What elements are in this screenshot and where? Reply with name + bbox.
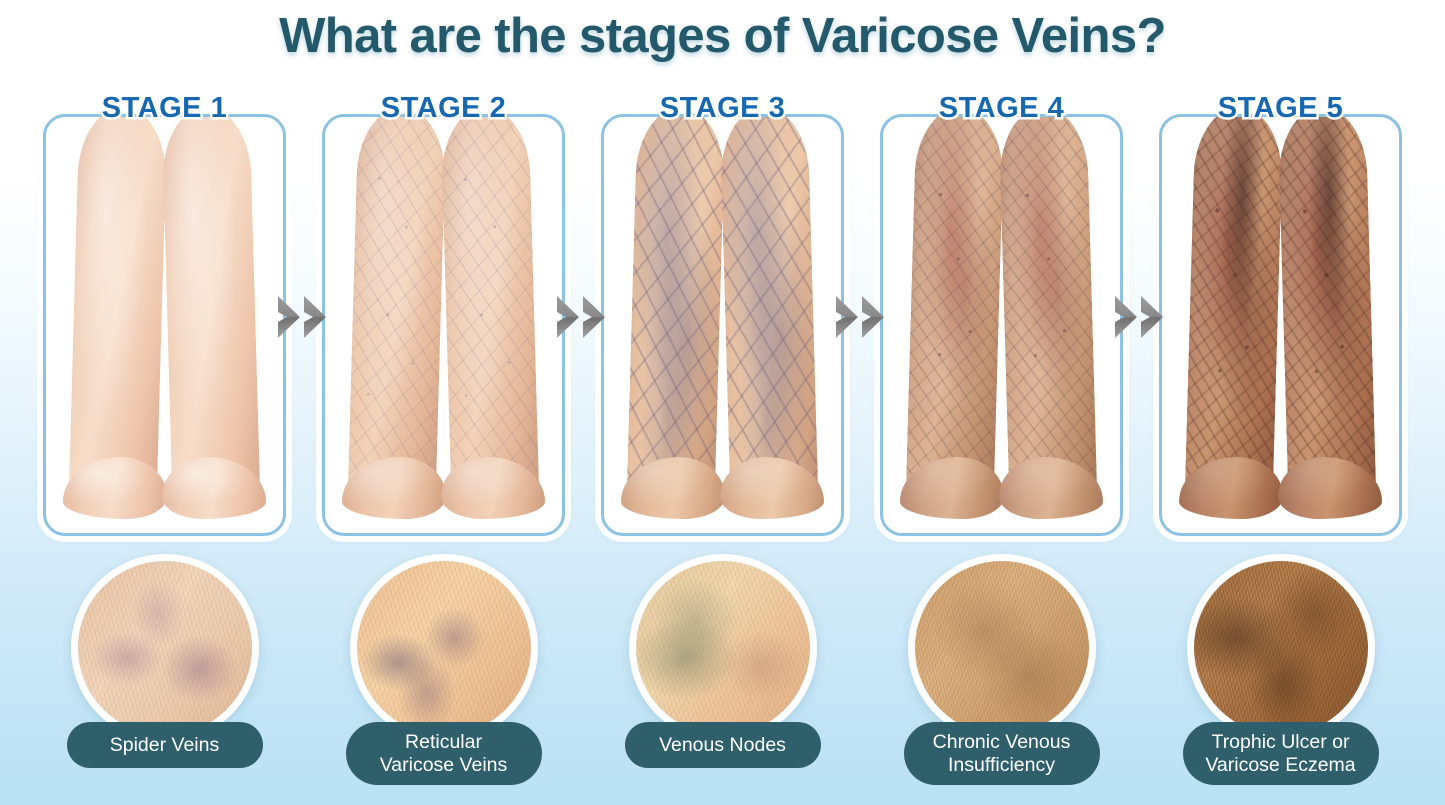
leg-left	[347, 117, 446, 508]
stage-closeup-circle-5	[1187, 554, 1375, 742]
vein-marks	[347, 117, 446, 508]
stage-closeup-circle-2	[350, 554, 538, 742]
double-chevron-right-icon	[834, 292, 892, 342]
double-chevron-right-icon	[1113, 292, 1171, 342]
foot-left	[342, 457, 446, 519]
vein-marks	[68, 117, 167, 508]
stage-heading-2: STAGE 2	[322, 92, 565, 125]
leg-right	[1277, 117, 1376, 508]
vein-marks	[1184, 117, 1283, 508]
leg-left	[905, 117, 1004, 508]
stage-heading-3: STAGE 3	[601, 92, 844, 125]
stage-closeup-circle-4	[908, 554, 1096, 742]
foot-right	[162, 457, 266, 519]
vein-marks	[905, 117, 1004, 508]
stage-label-pill-3: Venous Nodes	[625, 722, 821, 768]
vein-marks	[161, 117, 260, 508]
leg-right	[440, 117, 539, 508]
foot-right	[720, 457, 824, 519]
legs-photo-2	[325, 117, 562, 533]
stage-heading-1: STAGE 1	[43, 92, 286, 125]
skin-texture	[357, 561, 531, 735]
foot-right	[441, 457, 545, 519]
leg-left	[68, 117, 167, 508]
stage-photo-card-5	[1159, 114, 1402, 536]
foot-right	[1278, 457, 1382, 519]
stage-photo-card-3	[601, 114, 844, 536]
foot-left	[621, 457, 725, 519]
vein-marks	[998, 117, 1097, 508]
skin-texture	[636, 561, 810, 735]
skin-texture	[1194, 561, 1368, 735]
vein-marks	[1277, 117, 1376, 508]
legs-photo-1	[46, 117, 283, 533]
leg-left	[1184, 117, 1283, 508]
stage-label-pill-2: Reticular Varicose Veins	[346, 722, 542, 785]
foot-left	[1179, 457, 1283, 519]
leg-right	[719, 117, 818, 508]
foot-left	[900, 457, 1004, 519]
stage-closeup-circle-1	[71, 554, 259, 742]
vein-marks	[440, 117, 539, 508]
stage-photo-card-2	[322, 114, 565, 536]
stages-container: STAGE 1 Spider Veins STAGE 2	[0, 0, 1445, 805]
legs-photo-5	[1162, 117, 1399, 533]
stage-label-pill-1: Spider Veins	[67, 722, 263, 768]
skin-texture	[78, 561, 252, 735]
stage-photo-card-1	[43, 114, 286, 536]
skin-texture	[915, 561, 1089, 735]
foot-left	[63, 457, 167, 519]
stage-label-pill-5: Trophic Ulcer or Varicose Eczema	[1183, 722, 1379, 785]
stage-heading-4: STAGE 4	[880, 92, 1123, 125]
leg-right	[998, 117, 1097, 508]
foot-right	[999, 457, 1103, 519]
leg-left	[626, 117, 725, 508]
stage-photo-card-4	[880, 114, 1123, 536]
leg-right	[161, 117, 260, 508]
vein-marks	[626, 117, 725, 508]
double-chevron-right-icon	[555, 292, 613, 342]
stage-closeup-circle-3	[629, 554, 817, 742]
legs-photo-3	[604, 117, 841, 533]
legs-photo-4	[883, 117, 1120, 533]
double-chevron-right-icon	[276, 292, 334, 342]
stage-label-pill-4: Chronic Venous Insufficiency	[904, 722, 1100, 785]
vein-marks	[719, 117, 818, 508]
stage-heading-5: STAGE 5	[1159, 92, 1402, 125]
